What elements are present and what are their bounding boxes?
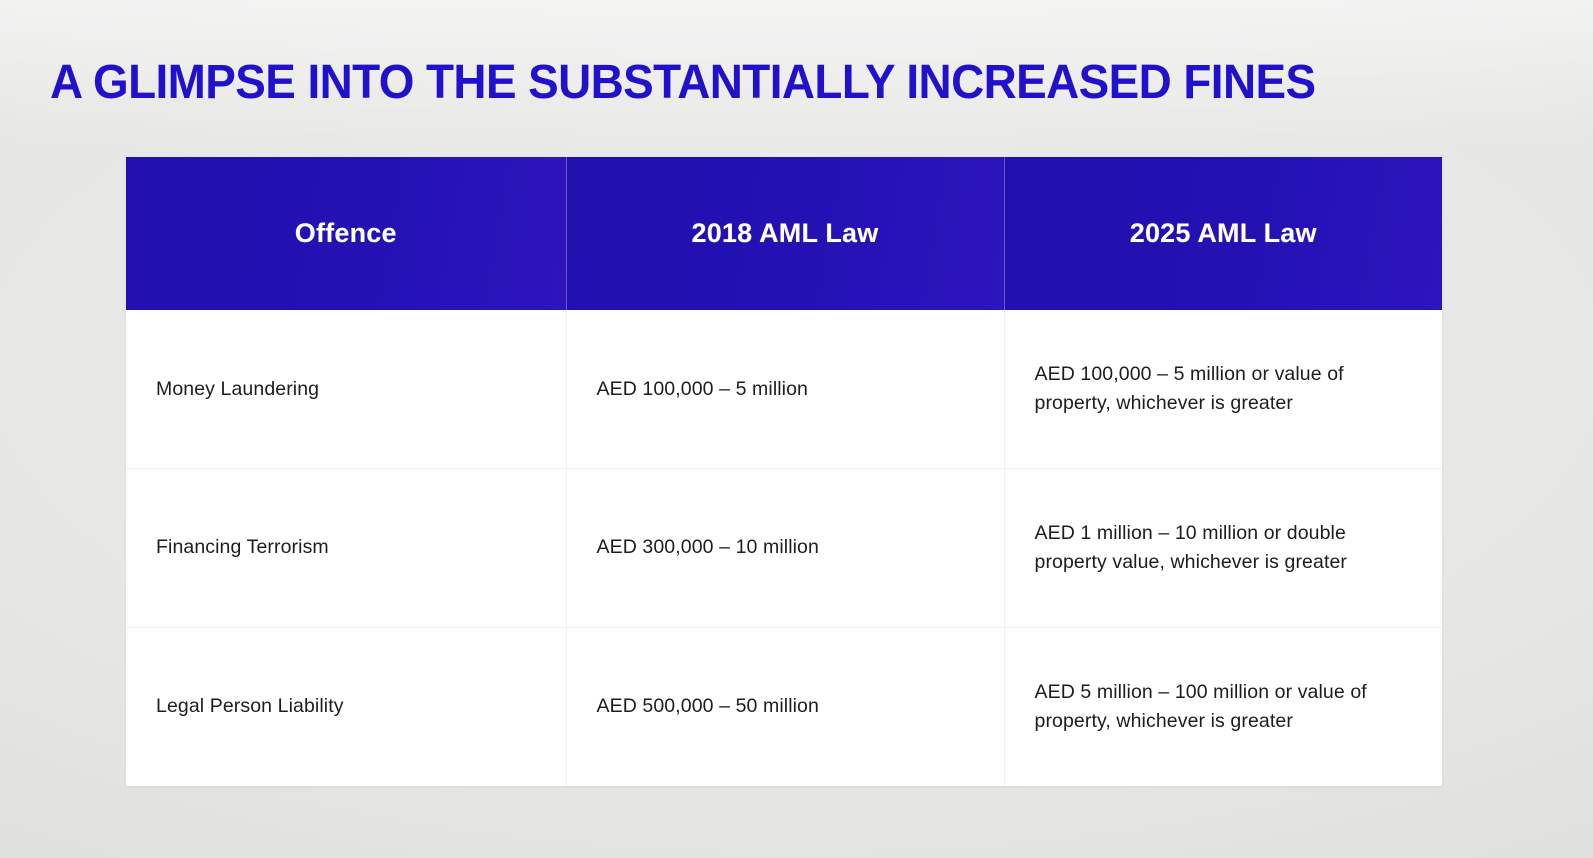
page-title: A GLIMPSE INTO THE SUBSTANTIALLY INCREAS…	[50, 54, 1483, 112]
table-header-row: Offence 2018 AML Law 2025 AML Law	[126, 157, 1442, 310]
table-row: Financing Terrorism AED 300,000 – 10 mil…	[126, 469, 1442, 628]
column-header-2025-aml-law: 2025 AML Law	[1004, 157, 1442, 310]
cell-2018-penalty: AED 500,000 – 50 million	[566, 627, 1004, 786]
cell-offence: Money Laundering	[126, 310, 566, 469]
table-row: Money Laundering AED 100,000 – 5 million…	[126, 310, 1442, 469]
cell-offence: Financing Terrorism	[126, 469, 566, 628]
slide-canvas: A GLIMPSE INTO THE SUBSTANTIALLY INCREAS…	[0, 0, 1593, 858]
cell-2018-penalty: AED 300,000 – 10 million	[566, 469, 1004, 628]
table-body: Money Laundering AED 100,000 – 5 million…	[126, 310, 1442, 786]
column-header-2018-aml-law: 2018 AML Law	[566, 157, 1004, 310]
fines-comparison-table: Offence 2018 AML Law 2025 AML Law Money …	[126, 157, 1442, 786]
table-row: Legal Person Liability AED 500,000 – 50 …	[126, 627, 1442, 786]
cell-2018-penalty: AED 100,000 – 5 million	[566, 310, 1004, 469]
table-header: Offence 2018 AML Law 2025 AML Law	[126, 157, 1442, 310]
cell-2025-penalty: AED 100,000 – 5 million or value of prop…	[1004, 310, 1442, 469]
cell-2025-penalty: AED 1 million – 10 million or double pro…	[1004, 469, 1442, 628]
cell-2025-penalty: AED 5 million – 100 million or value of …	[1004, 627, 1442, 786]
column-header-offence: Offence	[126, 157, 566, 310]
cell-offence: Legal Person Liability	[126, 627, 566, 786]
